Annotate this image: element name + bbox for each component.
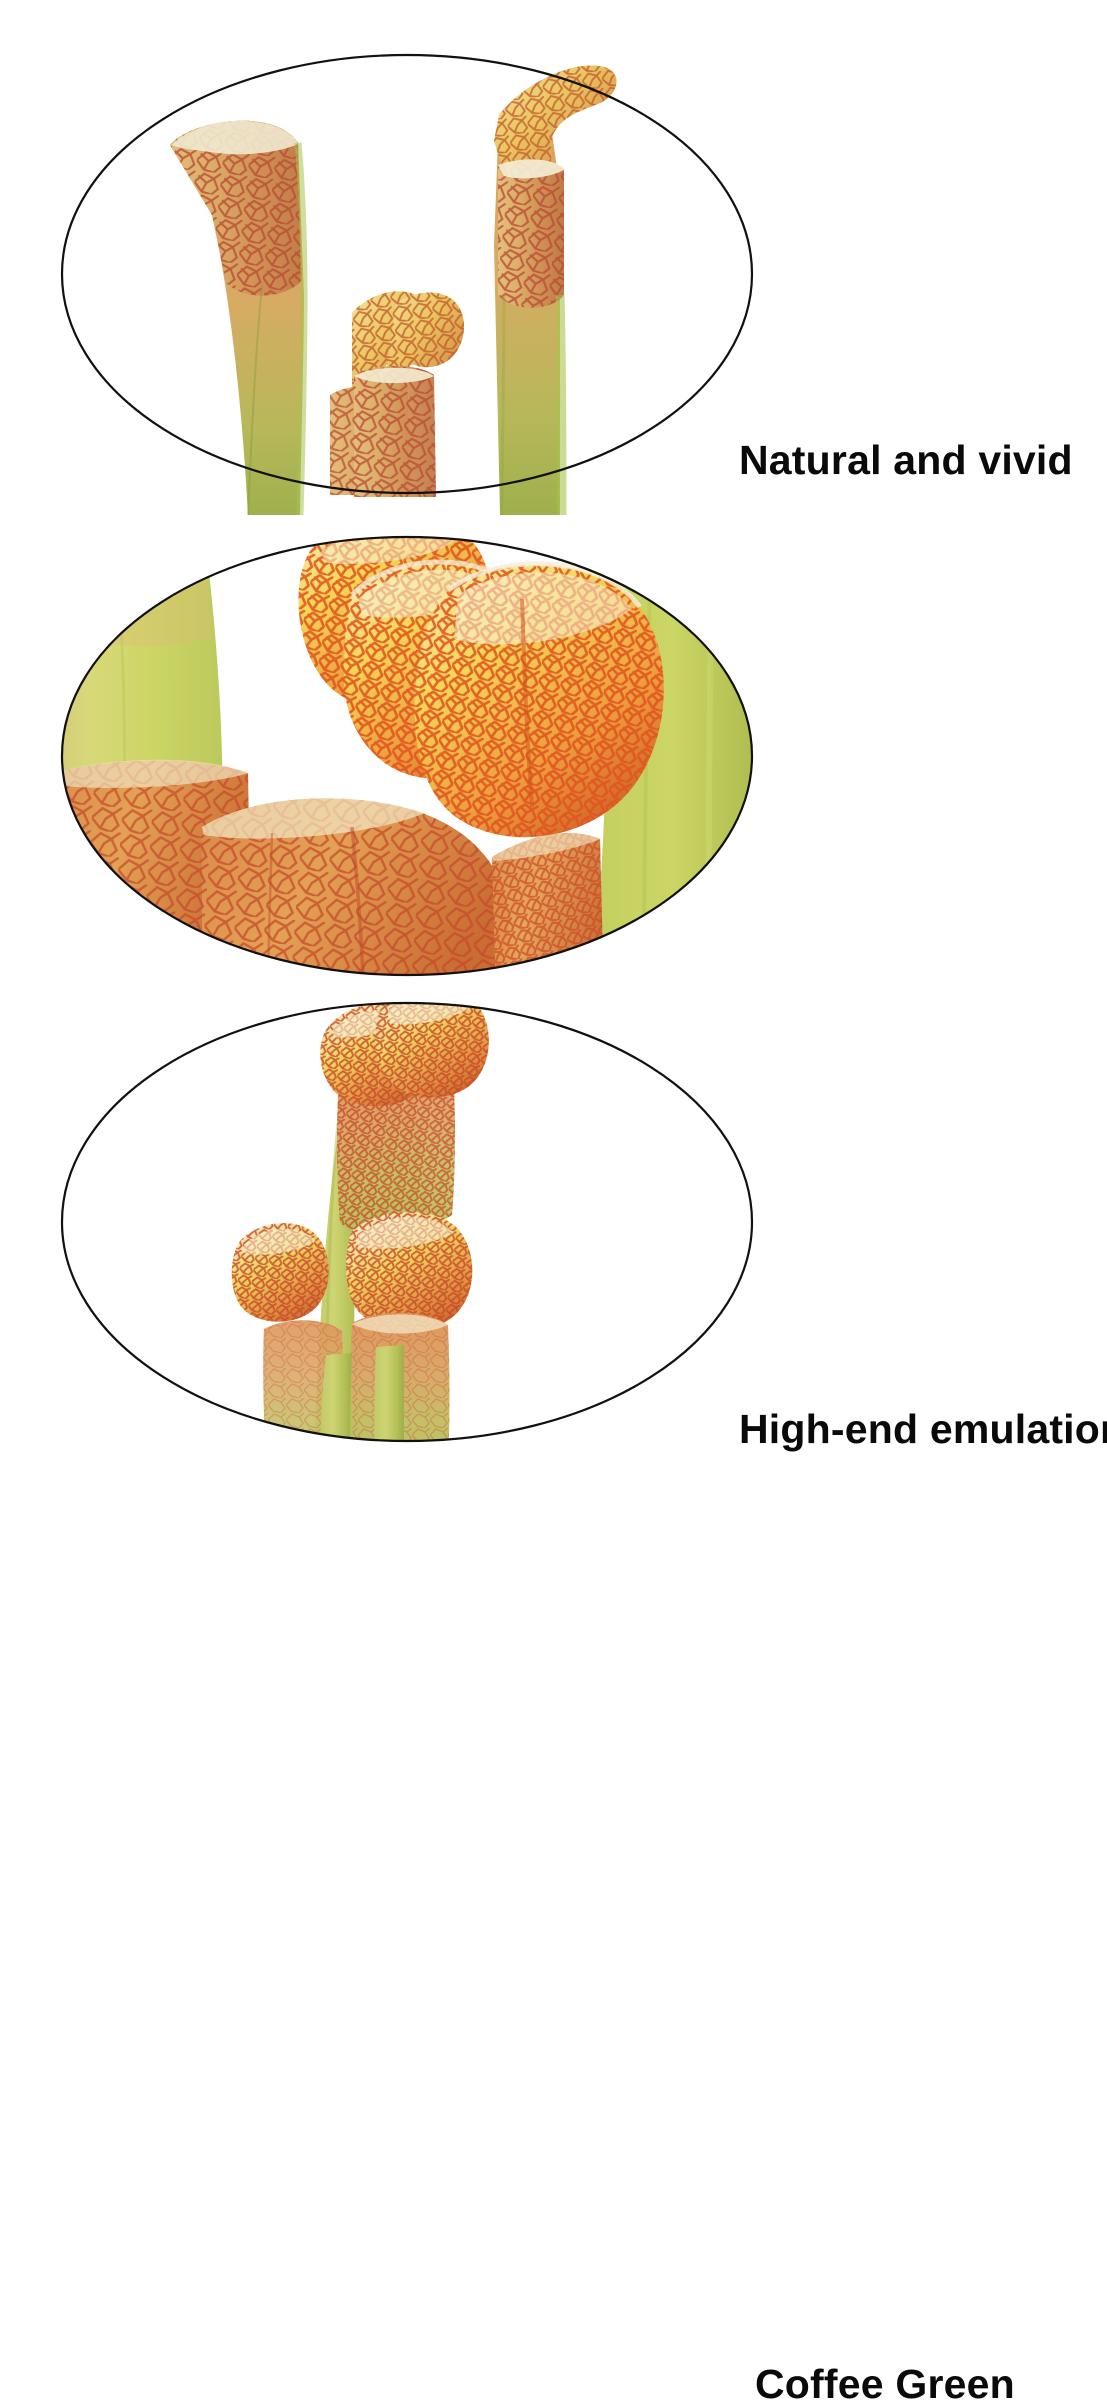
feature-panel-coffee-green: Coffee Green — [0, 980, 1107, 1487]
oval-frame-2 — [52, 527, 772, 987]
stalk-right-lower — [374, 1345, 404, 1463]
caption-natural-and-vivid: Natural and vivid — [739, 437, 1073, 484]
hood-mid-left — [232, 1223, 329, 1321]
hood-mid-right — [346, 1212, 472, 1330]
infographic-board: Natural and vivid — [0, 0, 1107, 1487]
cup-right-edge — [492, 833, 604, 997]
oval-frame-1 — [52, 45, 772, 505]
pitcher-plant-illustration-2 — [52, 527, 772, 987]
pitcher-plant-illustration-3 — [52, 993, 772, 1453]
feature-panel-natural-and-vivid: Natural and vivid — [0, 0, 1107, 500]
pitcher-plant-illustration-1 — [52, 45, 772, 505]
caption-coffee-green: Coffee Green — [755, 2361, 1015, 2408]
feature-panel-high-end-emulation: High-end emulation — [0, 500, 1107, 995]
stalk-left-lower — [320, 1353, 352, 1463]
oval-frame-3 — [52, 993, 772, 1453]
